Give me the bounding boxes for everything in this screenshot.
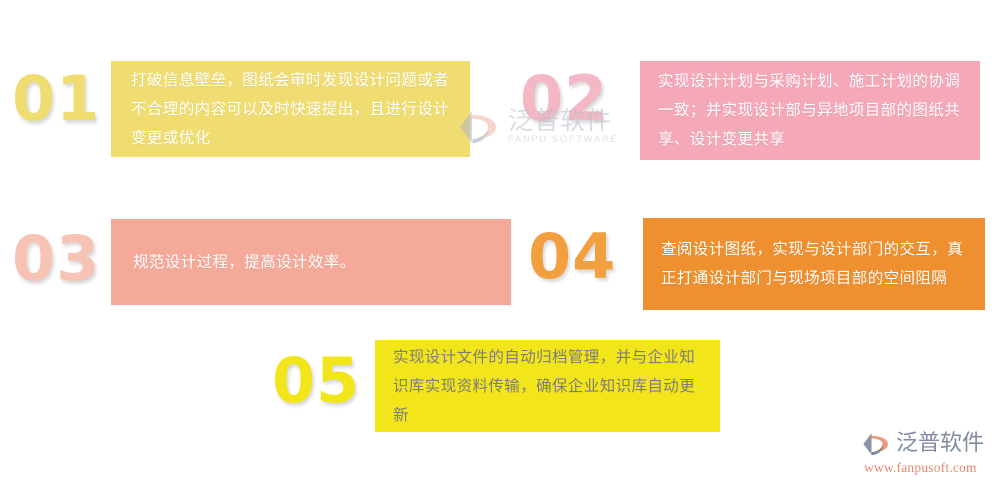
- item-box-05: 实现设计文件的自动归档管理，并与企业知识库实现资料传输，确保企业知识库自动更新: [375, 340, 720, 432]
- brand-logo-cn: 泛普软件: [896, 432, 984, 456]
- item-text-03: 规范设计过程，提高设计效率。: [133, 248, 493, 277]
- item-number-05: 05: [272, 350, 360, 412]
- item-box-04: 查阅设计图纸，实现与设计部门的交互，真正打通设计部门与现场项目部的空间阻隔: [643, 218, 985, 310]
- item-box-01: 打破信息壁垒，图纸会审时发现设计问题或者不合理的内容可以及时快速提出，且进行设计…: [111, 61, 470, 157]
- item-text-01: 打破信息壁垒，图纸会审时发现设计问题或者不合理的内容可以及时快速提出，且进行设计…: [131, 66, 452, 153]
- item-number-02: 02: [520, 68, 608, 130]
- item-box-02: 实现设计计划与采购计划、施工计划的协调一致；并实现设计部与异地项目部的图纸共享、…: [640, 61, 980, 160]
- fanpu-logo-icon: [862, 430, 892, 458]
- item-text-05: 实现设计文件的自动归档管理，并与企业知识库实现资料传输，确保企业知识库自动更新: [393, 343, 706, 430]
- item-number-03: 03: [12, 228, 100, 290]
- watermark-brand-en: FANPU SOFTWARE: [508, 134, 618, 146]
- brand-logo: 泛普软件 www.fanpusoft.com: [862, 430, 994, 482]
- item-text-02: 实现设计计划与采购计划、施工计划的协调一致；并实现设计部与异地项目部的图纸共享、…: [658, 67, 966, 154]
- item-text-04: 查阅设计图纸，实现与设计部门的交互，真正打通设计部门与现场项目部的空间阻隔: [661, 235, 971, 293]
- brand-logo-row: 泛普软件: [862, 430, 984, 458]
- item-number-01: 01: [12, 68, 100, 130]
- item-number-04: 04: [528, 226, 616, 288]
- infographic-canvas: 01 打破信息壁垒，图纸会审时发现设计问题或者不合理的内容可以及时快速提出，且进…: [0, 0, 999, 488]
- item-box-03: 规范设计过程，提高设计效率。: [111, 219, 511, 305]
- brand-logo-url: www.fanpusoft.com: [864, 460, 977, 476]
